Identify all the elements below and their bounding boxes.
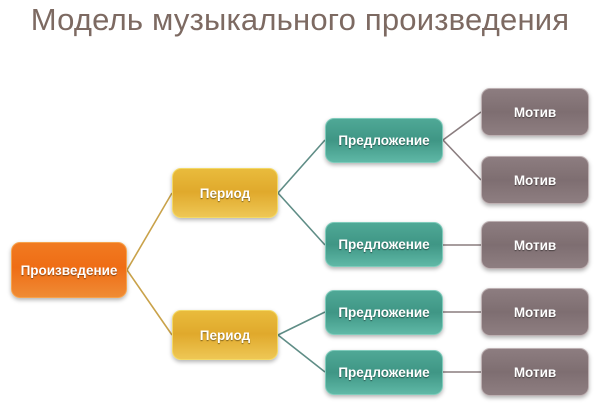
node-sentence-4[interactable]: Предложение <box>325 350 443 395</box>
node-sentence-1[interactable]: Предложение <box>325 118 443 163</box>
diagram-canvas: Модель музыкального произведения Произве… <box>0 0 600 420</box>
edge-sentence1-to-motive-1 <box>443 112 481 140</box>
edge-period2-to-sentence-4 <box>278 335 325 372</box>
node-sentence-2[interactable]: Предложение <box>325 222 443 267</box>
node-sentence-1-label: Предложение <box>338 133 429 148</box>
node-sentence-4-label: Предложение <box>338 365 429 380</box>
node-period-2[interactable]: Период <box>172 310 278 360</box>
node-motive-2-label: Мотив <box>514 173 556 188</box>
node-motive-1-label: Мотив <box>514 105 556 120</box>
node-work-label: Произведение <box>21 263 118 278</box>
edge-work-to-period-1 <box>127 193 172 270</box>
node-motive-3[interactable]: Мотив <box>481 221 589 269</box>
node-sentence-3-label: Предложение <box>338 305 429 320</box>
node-motive-1[interactable]: Мотив <box>481 88 589 136</box>
edge-sentence1-to-motive-2 <box>443 140 481 180</box>
node-sentence-2-label: Предложение <box>338 237 429 252</box>
node-period-2-label: Период <box>200 328 250 343</box>
node-motive-4-label: Мотив <box>514 305 556 320</box>
node-motive-2[interactable]: Мотив <box>481 156 589 204</box>
edge-period1-to-sentence-2 <box>278 193 325 245</box>
edge-period1-to-sentence-1 <box>278 140 325 193</box>
node-work[interactable]: Произведение <box>11 242 127 298</box>
edge-period2-to-sentence-3 <box>278 312 325 335</box>
node-motive-3-label: Мотив <box>514 238 556 253</box>
node-motive-5[interactable]: Мотив <box>481 348 589 396</box>
node-period-1[interactable]: Период <box>172 168 278 218</box>
node-motive-4[interactable]: Мотив <box>481 288 589 336</box>
edge-work-to-period-2 <box>127 270 172 335</box>
node-period-1-label: Период <box>200 186 250 201</box>
node-sentence-3[interactable]: Предложение <box>325 290 443 335</box>
node-motive-5-label: Мотив <box>514 365 556 380</box>
